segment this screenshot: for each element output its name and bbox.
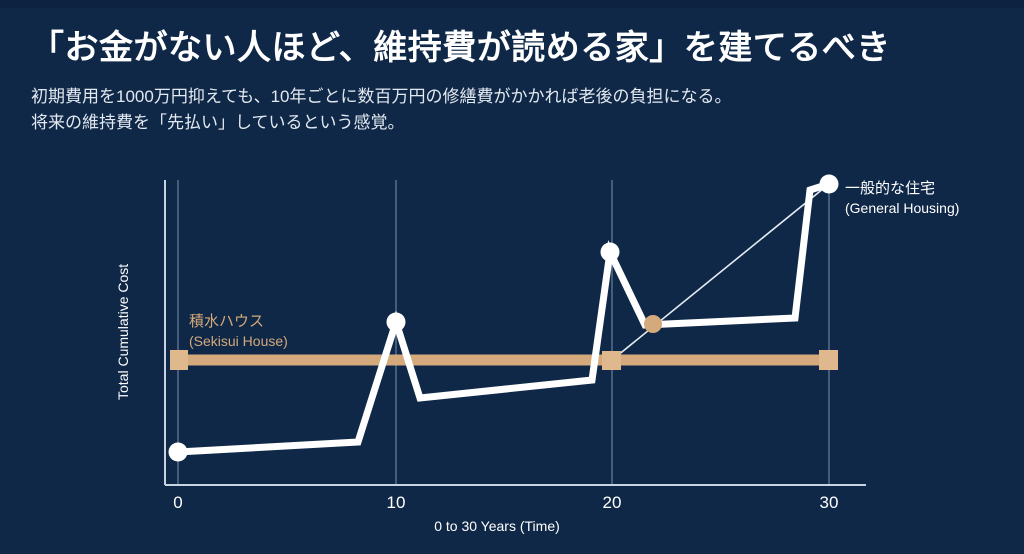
x-tick-30: 30 — [820, 493, 839, 512]
gh-marker-30 — [820, 175, 839, 194]
sekisui-marker-30 — [819, 350, 838, 370]
gh-marker-0 — [169, 443, 188, 462]
cumulative-cost-chart: Total Cumulative Cost 0 to 30 Years (Tim… — [0, 150, 1024, 554]
page-title: 「お金がない人ほど、維持費が読める家」を建てるべき — [30, 20, 1010, 69]
sekisui-label-en: (Sekisui House) — [189, 333, 288, 349]
sekisui-house-legend-label: 積水ハウス (Sekisui House) — [189, 313, 288, 349]
x-tick-20: 20 — [603, 493, 622, 512]
x-tick-10: 10 — [387, 493, 406, 512]
general-housing-legend-label: 一般的な住宅 (General Housing) — [845, 180, 959, 216]
gh-marker-10 — [387, 313, 406, 332]
general-housing-label-en: (General Housing) — [845, 200, 959, 216]
page-subtitle: 初期費用を1000万円抑えても、10年ごとに数百万円の修繕費がかかれば老後の負担… — [31, 84, 991, 136]
sekisui-marker-0 — [170, 350, 188, 370]
subtitle-line-1: 初期費用を1000万円抑えても、10年ごとに数百万円の修繕費がかかれば老後の負担… — [31, 84, 991, 110]
gh-marker-20 — [601, 243, 620, 262]
y-axis-label: Total Cumulative Cost — [115, 264, 131, 400]
x-tick-0: 0 — [173, 493, 182, 512]
sekisui-label-jp: 積水ハウス — [189, 313, 264, 330]
series-sekisui-house — [170, 350, 838, 370]
general-housing-label-jp: 一般的な住宅 — [845, 180, 935, 197]
trend-connector-line — [612, 184, 829, 360]
sekisui-crossover-dot — [644, 315, 662, 333]
sekisui-marker-20 — [602, 351, 621, 370]
chart-svg: Total Cumulative Cost 0 to 30 Years (Tim… — [0, 150, 1024, 554]
top-band — [0, 0, 1024, 8]
subtitle-line-2: 将来の維持費を「先払い」しているという感覚。 — [31, 110, 991, 136]
x-axis-label: 0 to 30 Years (Time) — [434, 518, 560, 534]
general-housing-line — [178, 184, 829, 452]
series-general-housing — [178, 184, 829, 452]
